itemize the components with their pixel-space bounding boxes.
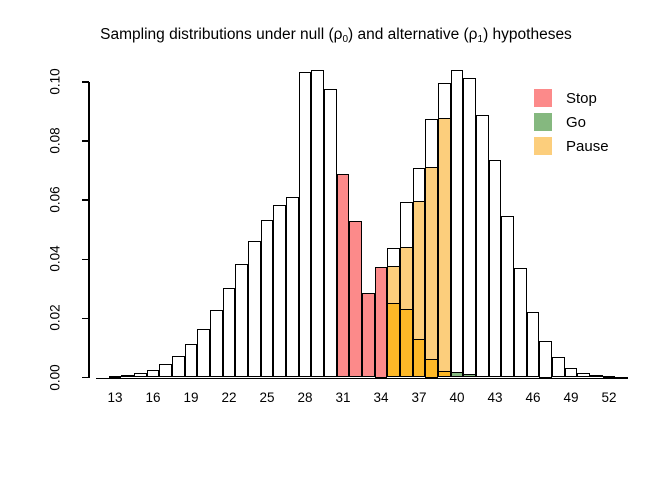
bar-segment-pause: [426, 167, 437, 377]
bar-segment-pause-overlap: [388, 303, 399, 376]
histogram-bar: [159, 364, 172, 377]
x-axis-label: 22: [209, 390, 249, 405]
y-axis-tick: [82, 318, 89, 320]
x-axis-label: 40: [437, 390, 477, 405]
histogram-bar: [577, 373, 590, 377]
y-axis-tick: [82, 259, 89, 261]
x-axis-label: 19: [171, 390, 211, 405]
x-axis-label: 25: [247, 390, 287, 405]
histogram-bar: [337, 174, 350, 378]
y-axis-tick: [82, 140, 89, 142]
legend-label: Go: [566, 115, 586, 130]
histogram-bar: [147, 370, 160, 378]
x-axis-label: 46: [513, 390, 553, 405]
histogram-bar: [235, 264, 248, 377]
histogram-bar: [248, 241, 261, 378]
histogram-bar: [463, 78, 476, 378]
legend-swatch-go: [534, 113, 552, 131]
histogram-bar: [603, 376, 616, 378]
histogram-bar: [121, 375, 134, 377]
histogram-bar: [273, 205, 286, 378]
x-axis-label: 43: [475, 390, 515, 405]
histogram-bar: [615, 377, 628, 379]
histogram-bar: [324, 89, 337, 377]
bar-segment-go: [452, 372, 463, 376]
histogram-bar: [413, 168, 426, 378]
histogram-bar: [197, 329, 210, 377]
y-axis-tick: [82, 377, 89, 379]
x-axis-label: 52: [589, 390, 629, 405]
histogram-bar: [172, 356, 185, 378]
histogram-bar: [565, 368, 578, 377]
histogram-bar: [527, 312, 540, 378]
legend-item-go: Go: [534, 110, 609, 134]
x-axis-label: 37: [399, 390, 439, 405]
histogram-bar: [261, 220, 274, 377]
histogram-bar: [387, 248, 400, 377]
histogram-bar: [501, 216, 514, 377]
bar-segment-go: [464, 374, 475, 376]
y-axis-label: 0.02: [48, 295, 63, 341]
histogram-bar: [286, 197, 299, 378]
legend-label: Pause: [566, 139, 609, 154]
legend: StopGoPause: [534, 86, 609, 158]
y-axis-tick: [82, 199, 89, 201]
histogram-bar: [109, 376, 122, 378]
histogram-bar: [349, 221, 362, 378]
bar-segment-pause-overlap: [426, 359, 437, 376]
histogram-bar: [311, 70, 324, 377]
histogram-bar: [425, 119, 438, 378]
x-axis-label: 34: [361, 390, 401, 405]
legend-item-pause: Pause: [534, 134, 609, 158]
y-axis-label: 0.10: [48, 59, 63, 105]
histogram-bar: [362, 293, 375, 377]
histogram-bar: [134, 373, 147, 377]
legend-swatch-pause: [534, 137, 552, 155]
bar-segment-pause-overlap: [439, 371, 450, 377]
x-axis-label: 49: [551, 390, 591, 405]
histogram-bar: [400, 202, 413, 378]
histogram-bar: [514, 268, 527, 377]
y-axis-label: 0.04: [48, 236, 63, 282]
x-axis-label: 13: [95, 390, 135, 405]
x-axis-label: 31: [323, 390, 363, 405]
histogram-bar: [210, 310, 223, 378]
legend-swatch-stop: [534, 89, 552, 107]
histogram-bar: [451, 70, 464, 377]
legend-item-stop: Stop: [534, 86, 609, 110]
chart-root: Sampling distributions under null (ρ0) a…: [0, 0, 672, 480]
histogram-bar: [476, 115, 489, 378]
x-axis-label: 16: [133, 390, 173, 405]
histogram-bar: [489, 160, 502, 377]
y-axis-label: 0.08: [48, 118, 63, 164]
legend-label: Stop: [566, 91, 597, 106]
bar-segment-pause-overlap: [414, 339, 425, 377]
bar-segment-pause: [439, 118, 450, 377]
x-axis-label: 28: [285, 390, 325, 405]
histogram-bar: [590, 375, 603, 377]
y-axis-label: 0.06: [48, 177, 63, 223]
bars-layer: [0, 0, 672, 480]
histogram-bar: [552, 357, 565, 377]
histogram-bar: [375, 267, 388, 378]
histogram-bar: [185, 344, 198, 377]
y-axis-label: 0.00: [48, 354, 63, 400]
histogram-bar: [438, 83, 451, 377]
y-axis-tick: [82, 81, 89, 83]
histogram-bar: [223, 288, 236, 378]
bar-segment-pause-overlap: [401, 309, 412, 376]
histogram-bar: [539, 341, 552, 378]
plot-area: 0.000.020.040.060.080.10 131619222528313…: [0, 0, 672, 480]
histogram-bar: [299, 72, 312, 378]
